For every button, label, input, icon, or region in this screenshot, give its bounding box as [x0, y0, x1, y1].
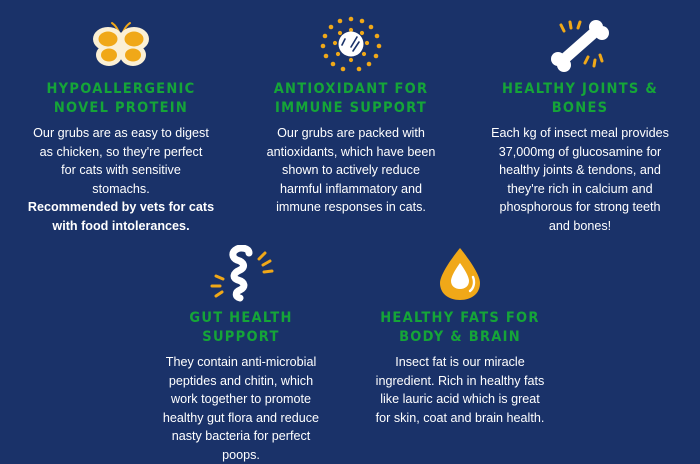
feature-body-line: work together to promote — [171, 392, 311, 406]
feature-body-line: nasty bacteria for perfect — [172, 429, 311, 443]
feature-hypoallergenic-novel-protein: HYPOALLERGENIC NOVEL PROTEIN Our grubs a… — [2, 14, 240, 235]
benefits-panel: HYPOALLERGENIC NOVEL PROTEIN Our grubs a… — [0, 0, 700, 424]
benefits-row-top: HYPOALLERGENIC NOVEL PROTEIN Our grubs a… — [0, 0, 700, 235]
feature-body-line: They contain anti-microbial — [166, 355, 317, 369]
feature-body-line: Each kg of insect meal provides — [491, 126, 669, 140]
feature-body-line: poops. — [222, 448, 260, 462]
antioxidant-cell-icon — [248, 14, 454, 76]
feature-body-line: antioxidants, which have been — [267, 145, 436, 159]
feature-body: Insect fat is our miracleingredient. Ric… — [359, 353, 561, 427]
feature-body-line: ingredient. Rich in healthy fats — [376, 374, 545, 388]
feature-body: Our grubs are as easy to digestas chicke… — [10, 124, 232, 235]
feature-body-line: shown to actively reduce — [282, 163, 420, 177]
feature-body-line: and bones! — [549, 219, 611, 233]
feature-healthy-fats-body-brain: HEALTHY FATS FOR BODY & BRAIN Insect fat… — [351, 243, 569, 427]
feature-heading: ANTIOXIDANT FOR IMMUNE SUPPORT — [258, 80, 443, 118]
feature-body-line: Recommended by vets for cats — [28, 200, 214, 214]
feature-body-line: Our grubs are packed with — [277, 126, 425, 140]
feature-body-line: stomachs. — [92, 182, 149, 196]
feature-body-line: immune responses in cats. — [276, 200, 426, 214]
feature-body-line: Insect fat is our miracle — [395, 355, 524, 369]
bone-icon — [470, 14, 690, 76]
feature-antioxidant-immune-support: ANTIOXIDANT FOR IMMUNE SUPPORT Our grubs… — [240, 14, 462, 217]
feature-body-line: for cats with sensitive — [61, 163, 181, 177]
feature-body-line: phosphorous for strong teeth — [499, 200, 660, 214]
feature-gut-health-support: GUT HEALTH SUPPORT They contain anti-mic… — [131, 243, 351, 464]
feature-body-line: with food intolerances. — [52, 219, 189, 233]
butterfly-icon — [10, 14, 232, 76]
feature-body-line: Our grubs are as easy to digest — [33, 126, 209, 140]
feature-heading: HYPOALLERGENIC NOVEL PROTEIN — [21, 80, 221, 118]
feature-body-line: 37,000mg of glucosamine for — [499, 145, 661, 159]
feature-body: Each kg of insect meal provides37,000mg … — [470, 124, 690, 235]
feature-heading: GUT HEALTH SUPPORT — [149, 309, 333, 347]
feature-body-line: harmful inflammatory and — [280, 182, 422, 196]
intestine-icon — [139, 243, 343, 305]
feature-heading: HEALTHY JOINTS & BONES — [481, 80, 679, 118]
feature-body-line: as chicken, so they're perfect — [40, 145, 203, 159]
feature-body-line: healthy gut flora and reduce — [163, 411, 319, 425]
oil-droplet-icon — [359, 243, 561, 305]
feature-body-line: like lauric acid which is great — [380, 392, 540, 406]
feature-body-line: peptides and chitin, which — [169, 374, 313, 388]
feature-healthy-joints-bones: HEALTHY JOINTS & BONES Each kg of insect… — [462, 14, 698, 235]
feature-body-line: they're rich in calcium and — [507, 182, 652, 196]
feature-heading: HEALTHY FATS FOR BODY & BRAIN — [369, 309, 551, 347]
feature-body: Our grubs are packed withantioxidants, w… — [248, 124, 454, 217]
benefits-row-bottom: GUT HEALTH SUPPORT They contain anti-mic… — [0, 235, 700, 464]
feature-body-line: healthy joints & tendons, and — [499, 163, 661, 177]
feature-body-line: for skin, coat and brain health. — [376, 411, 545, 425]
feature-body: They contain anti-microbialpeptides and … — [139, 353, 343, 464]
